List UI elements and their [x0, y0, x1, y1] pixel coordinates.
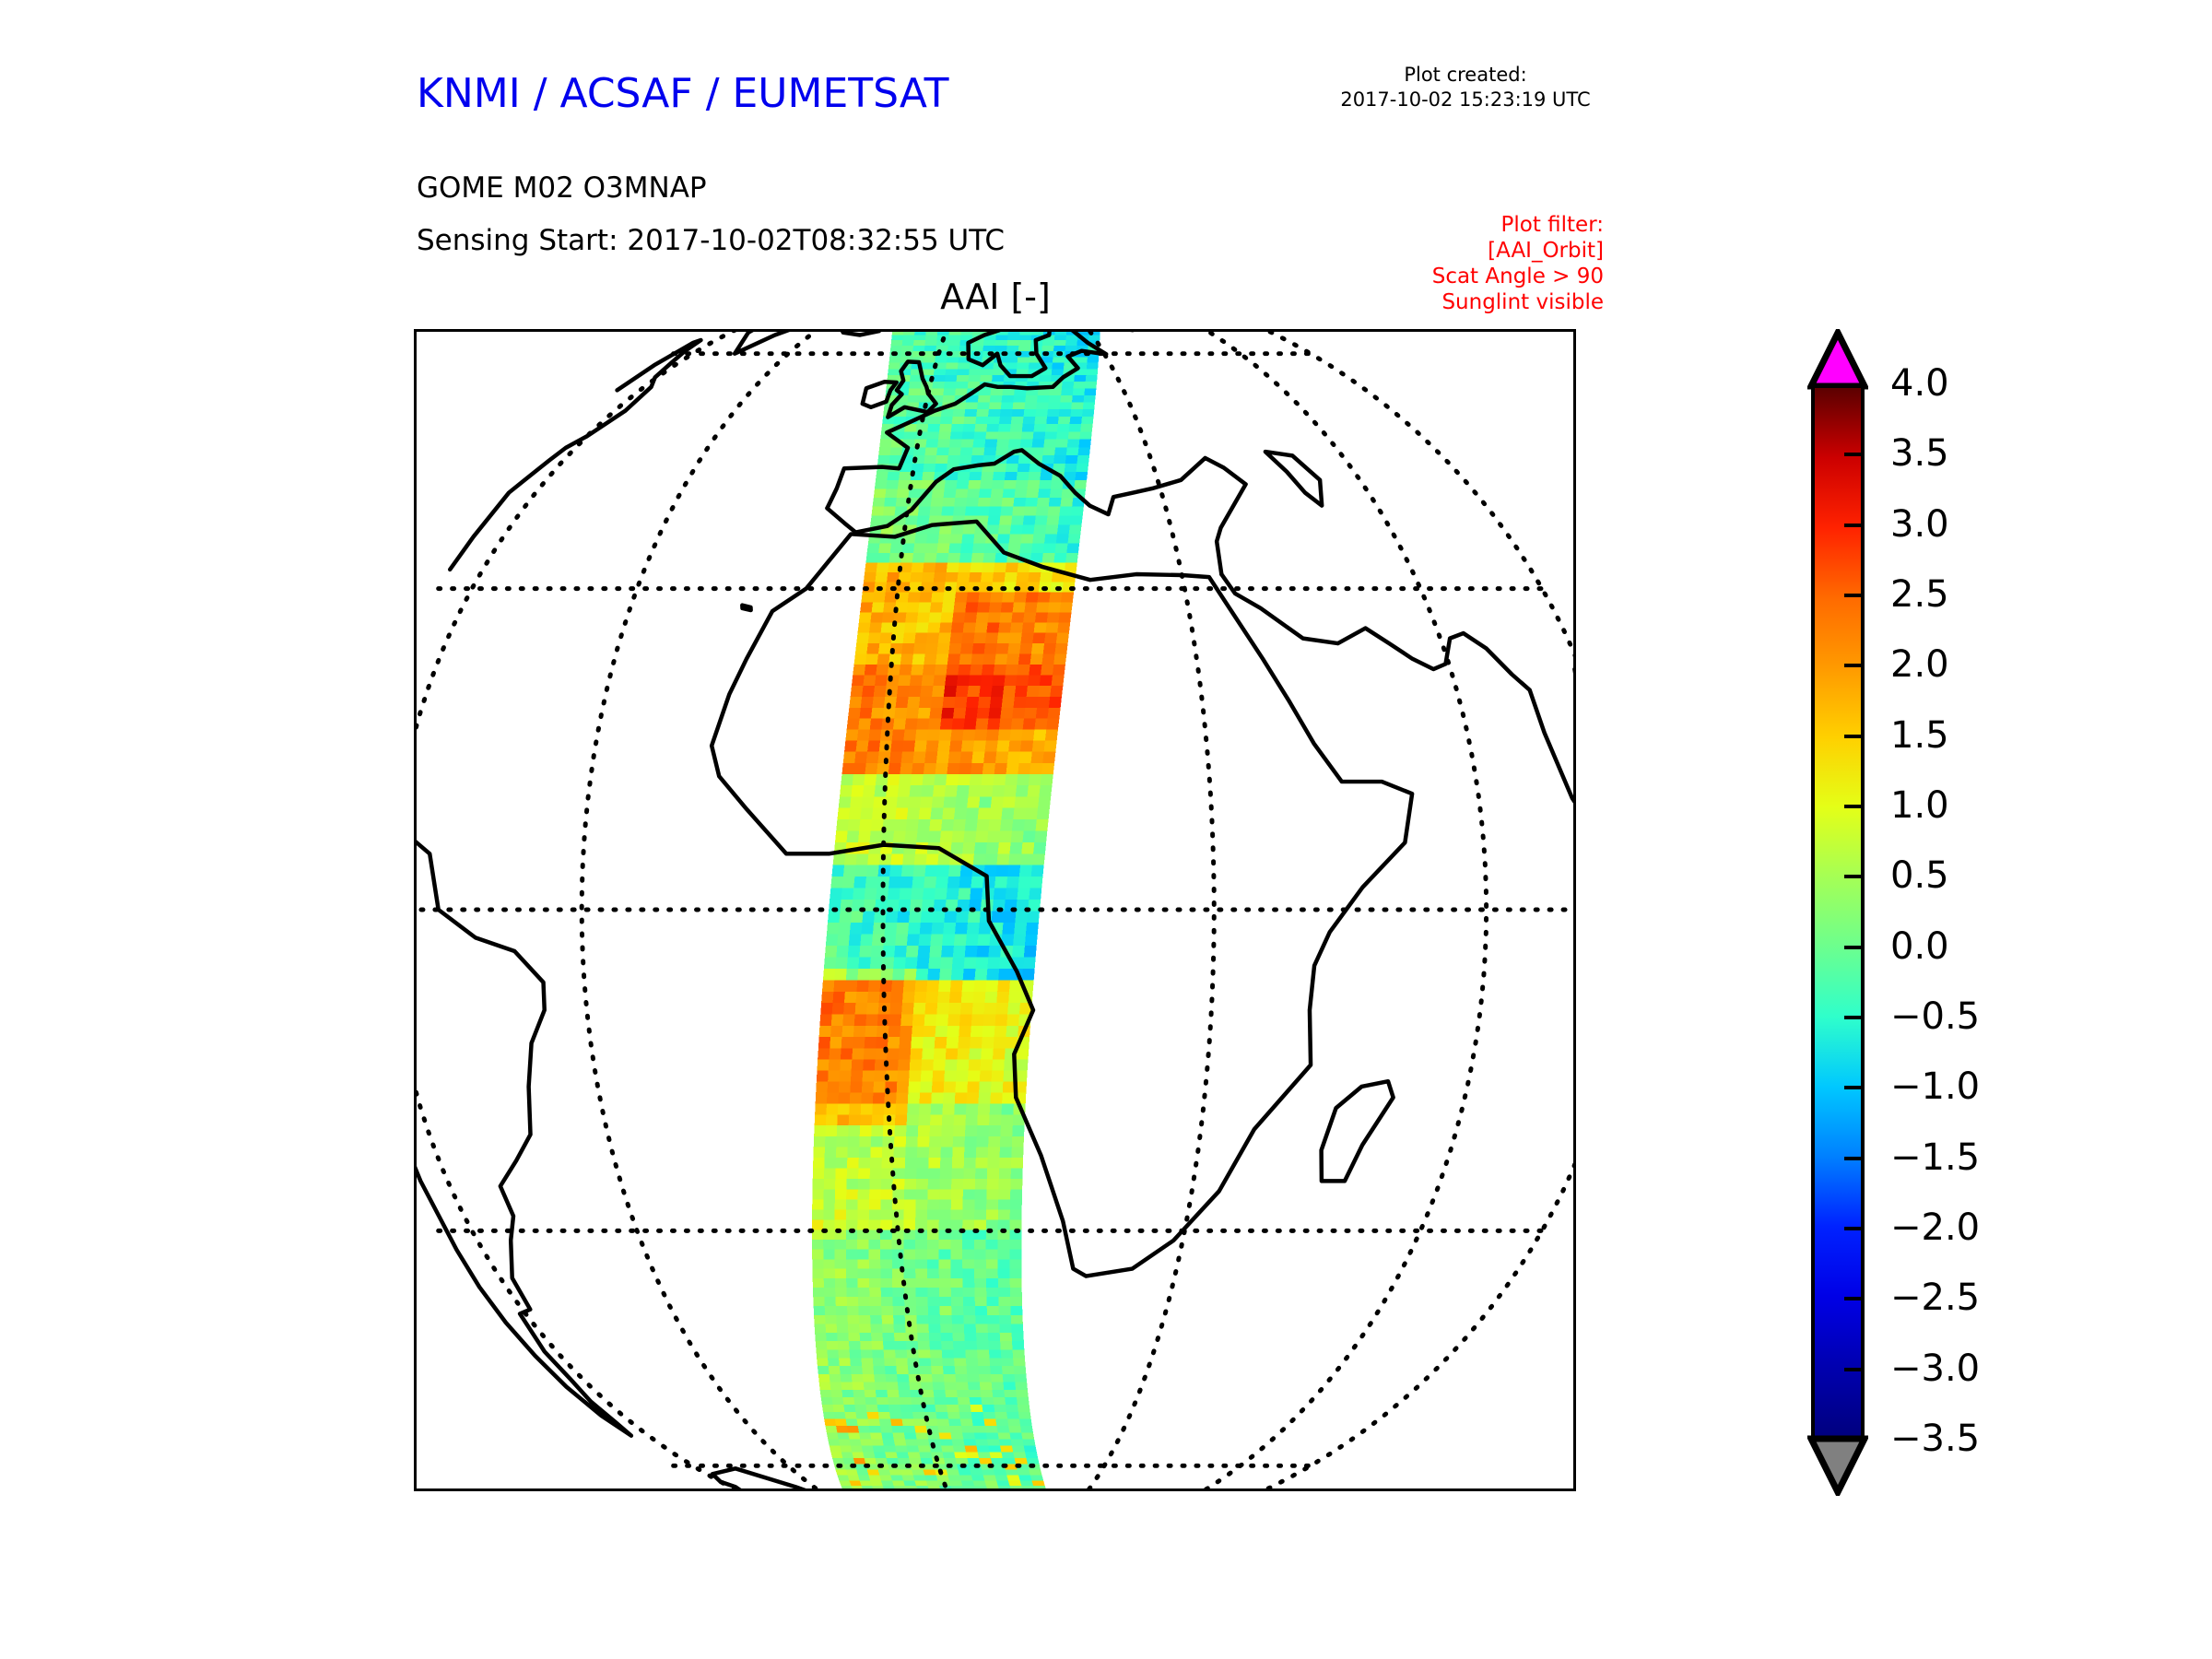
product-name: GOME M02 O3MNAP — [417, 171, 707, 205]
colorbar-tick — [1844, 946, 1865, 949]
colorbar-tick — [1844, 664, 1865, 667]
colorbar-tick — [1844, 735, 1865, 738]
colorbar-tick — [1844, 453, 1865, 456]
colorbar-under-arrow — [1807, 1435, 1868, 1496]
colorbar-tick-label: 0.5 — [1890, 857, 1949, 894]
colorbar-tick-label: 2.0 — [1890, 646, 1949, 683]
colorbar-tick — [1844, 875, 1865, 878]
colorbar-tick — [1844, 1016, 1865, 1019]
plot-created-label: Plot created: — [1327, 63, 1604, 88]
colorbar-tick — [1844, 1157, 1865, 1160]
colorbar-tick-label: 3.0 — [1890, 506, 1949, 543]
colorbar-tick-label: 0.0 — [1890, 928, 1949, 965]
organisation-title: KNMI / ACSAF / EUMETSAT — [417, 70, 948, 117]
colorbar-tick-label: −2.5 — [1890, 1279, 1980, 1316]
colorbar-tick — [1844, 1368, 1865, 1371]
colorbar-tick — [1844, 1227, 1865, 1230]
colorbar-over-arrow — [1807, 329, 1868, 390]
colorbar-tick-label: 2.5 — [1890, 576, 1949, 613]
colorbar-tick — [1844, 524, 1865, 527]
sensing-start-text: Sensing Start: 2017-10-02T08:32:55 UTC — [417, 224, 1005, 257]
colorbar-tick-label: −3.5 — [1890, 1420, 1980, 1457]
colorbar-tick — [1844, 805, 1865, 808]
colorbar-tick — [1844, 1297, 1865, 1300]
plot-filter-name: [AAI_Orbit] — [1378, 238, 1604, 264]
plot-created-block: Plot created: 2017-10-02 15:23:19 UTC — [1327, 63, 1604, 112]
colorbar-tick-label: 3.5 — [1890, 435, 1949, 472]
page-title: AAI [-] — [414, 276, 1577, 317]
colorbar-tick-label: −0.5 — [1890, 998, 1980, 1035]
map-plot-area — [414, 329, 1576, 1491]
colorbar-tick-label: −2.0 — [1890, 1209, 1980, 1246]
colorbar-tick-label: −3.0 — [1890, 1350, 1980, 1387]
colorbar: 4.03.53.02.52.01.51.00.50.0−0.5−1.0−1.5−… — [1802, 329, 2189, 1495]
plot-created-timestamp: 2017-10-02 15:23:19 UTC — [1327, 88, 1604, 112]
colorbar-tick-label: 1.5 — [1890, 717, 1949, 754]
colorbar-tick — [1844, 1086, 1865, 1089]
plot-filter-label: Plot filter: — [1378, 212, 1604, 238]
orthographic-map — [417, 332, 1573, 1488]
colorbar-ticks: 4.03.53.02.52.01.51.00.50.0−0.5−1.0−1.5−… — [1811, 384, 1865, 1440]
colorbar-tick-label: 4.0 — [1890, 365, 1949, 402]
colorbar-tick-label: 1.0 — [1890, 787, 1949, 824]
colorbar-tick — [1844, 594, 1865, 597]
colorbar-tick-label: −1.5 — [1890, 1139, 1980, 1176]
colorbar-tick-label: −1.0 — [1890, 1068, 1980, 1105]
